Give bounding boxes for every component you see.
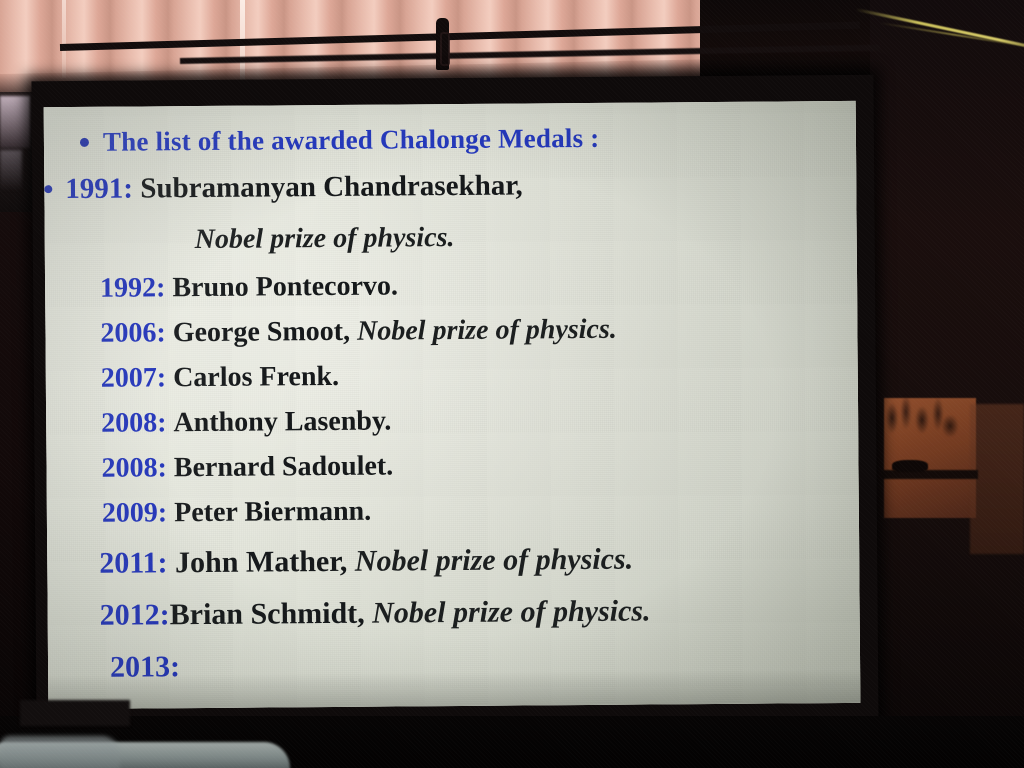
plant-foliage bbox=[882, 392, 960, 454]
window-glow-lower bbox=[0, 150, 22, 190]
medal-entry-2007: 2007: Carlos Frenk. bbox=[101, 361, 339, 395]
medal-entry-2006: 2006: George Smoot, Nobel prize of physi… bbox=[100, 314, 617, 350]
entry-person: Brian Schmidt, bbox=[170, 597, 365, 632]
entry-person: Carlos Frenk. bbox=[173, 361, 339, 393]
bullet-point-icon bbox=[80, 138, 89, 147]
alcove-side-panel bbox=[970, 404, 1024, 554]
entry-year: 2011: bbox=[99, 546, 168, 580]
entry-year: 2006: bbox=[100, 317, 166, 349]
entry-year: 2008: bbox=[101, 407, 167, 439]
medal-entry-2013: 2013: bbox=[110, 650, 180, 685]
medal-entry-2012: 2012:Brian Schmidt, Nobel prize of physi… bbox=[100, 594, 651, 632]
alcove-object bbox=[892, 460, 928, 472]
entry-year: 2012: bbox=[100, 598, 170, 632]
projection-screen-surface: The list of the awarded Chalonge Medals … bbox=[44, 101, 861, 709]
medal-entry-2011: 2011: John Mather, Nobel prize of physic… bbox=[99, 543, 633, 581]
medal-entry-1991: 1991: Subramanyan Chandrasekhar, bbox=[44, 169, 523, 206]
window-glow bbox=[0, 96, 30, 148]
entry-note: Nobel prize of physics. bbox=[372, 594, 651, 629]
entry-person: George Smoot, bbox=[173, 316, 351, 348]
entry-year: 1991: bbox=[65, 173, 133, 206]
slide-title-text: The list of the awarded Chalonge Medals … bbox=[103, 123, 600, 157]
entry-year: 2007: bbox=[101, 362, 167, 394]
entry-year: 2013: bbox=[110, 650, 180, 684]
entry-note: Nobel prize of physics. bbox=[357, 314, 617, 347]
entry-note: Nobel prize of physics. bbox=[195, 222, 455, 255]
photo-scene: The list of the awarded Chalonge Medals … bbox=[0, 0, 1024, 768]
screen-mount-hook-ring bbox=[440, 32, 450, 66]
entry-person: Subramanyan Chandrasekhar, bbox=[140, 169, 523, 204]
entry-year: 1992: bbox=[100, 272, 166, 304]
medal-entry-1991-continuation: Nobel prize of physics. bbox=[195, 222, 455, 256]
medal-entry-1992: 1992: Bruno Pontecorvo. bbox=[100, 270, 398, 304]
presentation-slide: The list of the awarded Chalonge Medals … bbox=[44, 101, 861, 709]
entry-note: Nobel prize of physics. bbox=[355, 543, 634, 578]
entry-person: Peter Biermann. bbox=[174, 496, 371, 529]
medal-entry-2009: 2009: Peter Biermann. bbox=[102, 496, 372, 530]
right-wall bbox=[870, 0, 1024, 768]
foreground-dark-object bbox=[20, 700, 130, 726]
projection-screen-frame: The list of the awarded Chalonge Medals … bbox=[31, 75, 878, 728]
entry-person: Bernard Sadoulet. bbox=[174, 450, 394, 483]
entry-person: Bruno Pontecorvo. bbox=[172, 270, 398, 303]
foreground-light-object-secondary bbox=[0, 736, 120, 768]
slide-title-line: The list of the awarded Chalonge Medals … bbox=[80, 123, 600, 158]
medal-entry-2008-lasenby: 2008: Anthony Lasenby. bbox=[101, 406, 391, 440]
bullet-point-icon bbox=[44, 185, 52, 193]
entry-person: John Mather, bbox=[175, 545, 348, 579]
blind-highlight-strip-2 bbox=[62, 0, 66, 78]
entry-year: 2009: bbox=[102, 497, 168, 529]
medal-entry-2008-sadoulet: 2008: Bernard Sadoulet. bbox=[101, 450, 393, 484]
entry-person: Anthony Lasenby. bbox=[173, 406, 391, 439]
entry-year: 2008: bbox=[101, 452, 167, 484]
